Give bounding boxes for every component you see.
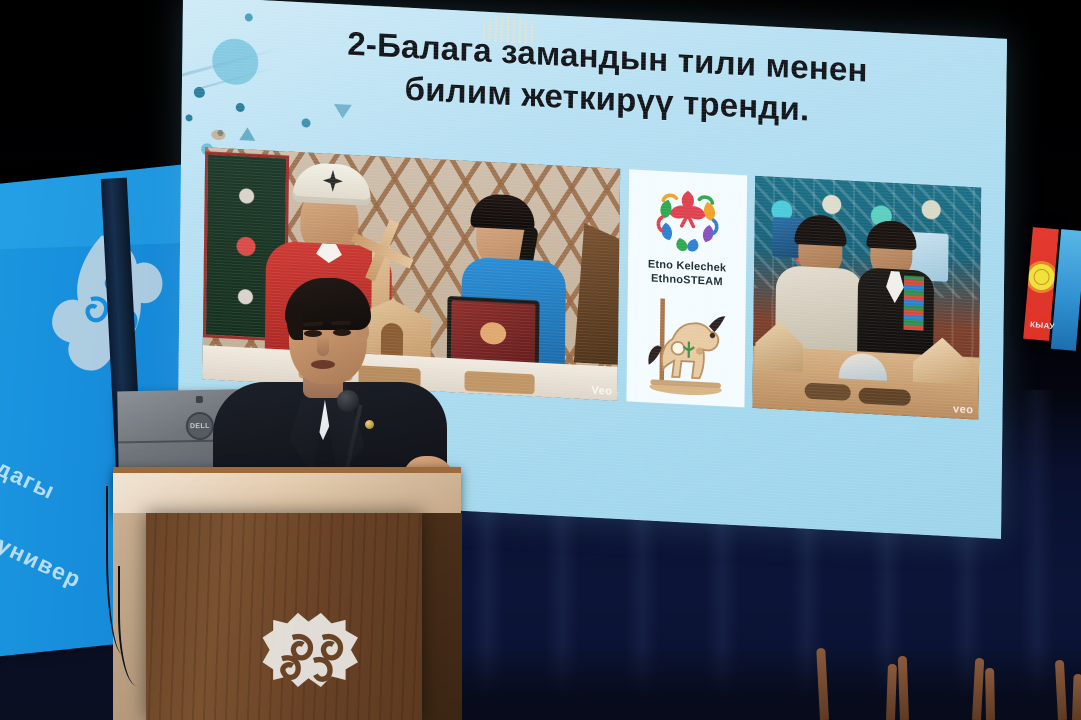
- podium-top-sheen: [113, 473, 461, 515]
- presenter-eyebrow-right: [331, 321, 351, 326]
- podium-side-right: [418, 513, 462, 720]
- microphone-icon: [337, 390, 359, 412]
- chair-back: [985, 668, 995, 720]
- presenter-mouth: [311, 360, 335, 369]
- laptop-camera-icon: [196, 396, 203, 403]
- presentation-photo: ков атындагы никалык универ 2-Балага зам…: [0, 0, 1081, 720]
- chair-back: [1072, 674, 1081, 720]
- presenter-lapel-pin: [365, 420, 374, 429]
- presenter-nose: [317, 336, 329, 356]
- podium-emblem-icon: [246, 604, 371, 710]
- podium-top: [113, 467, 461, 515]
- presenter-hair: [285, 278, 371, 330]
- presenter-eye-right: [333, 329, 351, 336]
- flag-sun-icon: [1028, 263, 1056, 291]
